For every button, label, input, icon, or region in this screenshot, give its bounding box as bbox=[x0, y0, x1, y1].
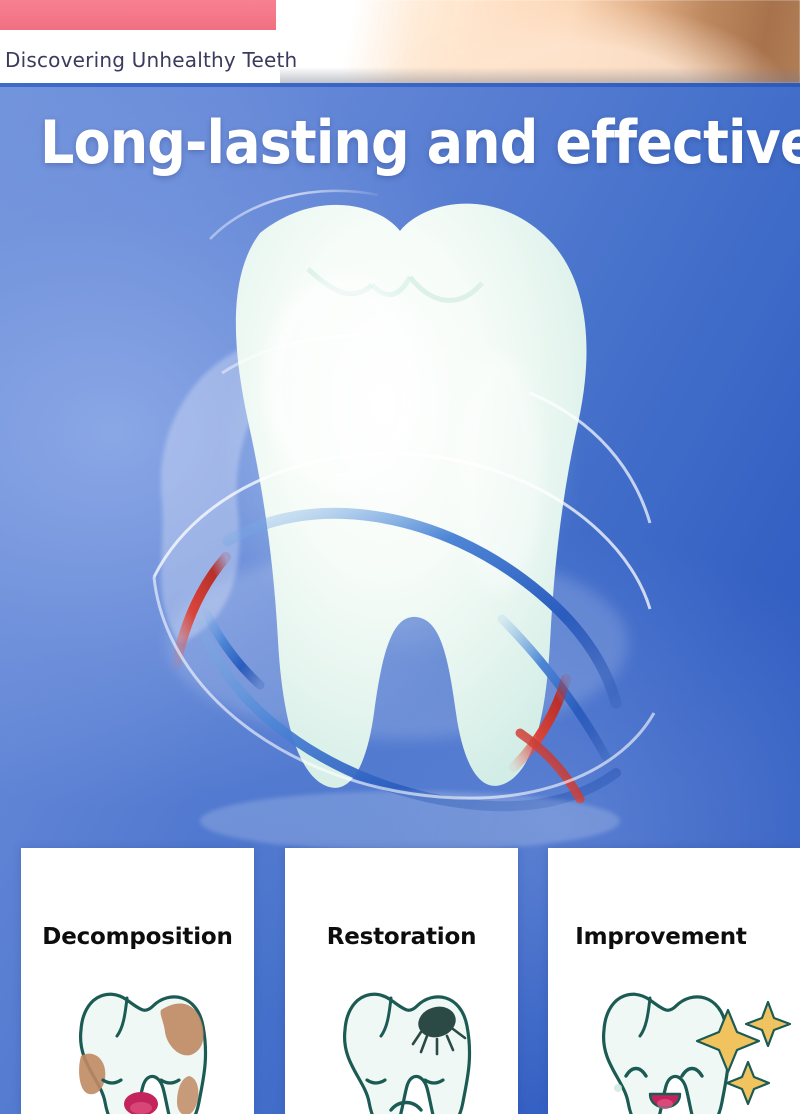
pink-banner bbox=[0, 0, 276, 30]
tooth-illustration bbox=[110, 173, 690, 863]
benefit-cards: Decomposition bbox=[0, 848, 800, 1114]
glowing-tooth bbox=[110, 173, 690, 863]
card-improvement[interactable]: Improvement bbox=[548, 848, 800, 1114]
happy-sparkling-tooth-icon bbox=[548, 970, 800, 1114]
photo-bottom-shadow bbox=[280, 67, 800, 83]
cavity-tooth-icon bbox=[285, 970, 518, 1114]
card-label: Restoration bbox=[285, 924, 518, 950]
promo-page: Discovering Unhealthy Teeth Long-lasting… bbox=[0, 0, 800, 1114]
card-decomposition[interactable]: Decomposition bbox=[21, 848, 254, 1114]
decayed-tooth-icon bbox=[21, 970, 254, 1114]
card-label: Decomposition bbox=[21, 924, 254, 950]
hero-title: Long-lasting and effective bbox=[40, 111, 760, 175]
hero-top-divider bbox=[0, 83, 800, 87]
card-label: Improvement bbox=[548, 924, 800, 950]
card-restoration[interactable]: Restoration bbox=[285, 848, 518, 1114]
page-header: Discovering Unhealthy Teeth bbox=[0, 0, 800, 83]
header-title: Discovering Unhealthy Teeth bbox=[5, 48, 297, 72]
